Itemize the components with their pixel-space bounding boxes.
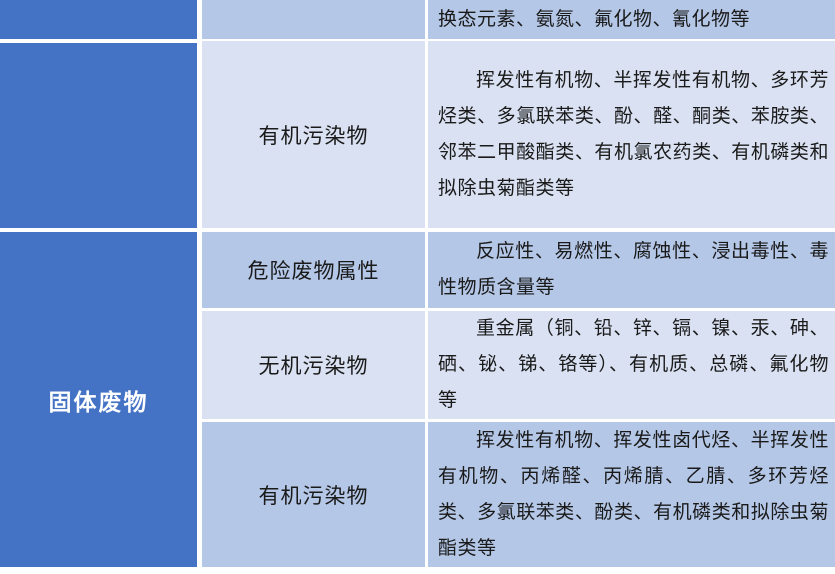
table-row: 有机污染物 挥发性有机物、挥发性卤代烃、半挥发性有机物、丙烯醛、丙烯腈、乙腈、多… (202, 422, 835, 567)
pollutant-category-table: 固体废物 换态元素、氨氮、氟化物、氰化物等 有机污染物 挥发性有机物、半挥发性有… (0, 0, 835, 567)
pollutant-items-text: 反应性、易燃性、腐蚀性、浸出毒性、毒性物质含量等 (438, 234, 829, 306)
pollutant-items-cell: 挥发性有机物、半挥发性有机物、多环芳烃类、多氯联苯类、酚、醛、酮类、苯胺类、邻苯… (425, 41, 835, 228)
pollutant-items-text: 挥发性有机物、半挥发性有机物、多环芳烃类、多氯联苯类、酚、醛、酮类、苯胺类、邻苯… (438, 63, 829, 207)
pollutant-items-text: 重金属（铜、铅、锌、镉、镍、汞、砷、硒、铋、锑、铬等）、有机质、总磷、氟化物等 (438, 311, 829, 419)
category-divider-top (0, 39, 197, 43)
table-row: 有机污染物 挥发性有机物、半挥发性有机物、多环芳烃类、多氯联苯类、酚、醛、酮类、… (202, 41, 835, 228)
table-body: 换态元素、氨氮、氟化物、氰化物等 有机污染物 挥发性有机物、半挥发性有机物、多环… (202, 0, 835, 567)
category-cell-empty (0, 0, 197, 228)
table-row: 换态元素、氨氮、氟化物、氰化物等 (202, 0, 835, 39)
pollutant-type-cell: 危险废物属性 (202, 232, 425, 308)
pollutant-type-cell (202, 0, 425, 39)
pollutant-items-cell: 挥发性有机物、挥发性卤代烃、半挥发性有机物、丙烯醛、丙烯腈、乙腈、多环芳烃类、多… (425, 422, 835, 567)
table-row: 危险废物属性 反应性、易燃性、腐蚀性、浸出毒性、毒性物质含量等 (202, 232, 835, 308)
table-row: 无机污染物 重金属（铜、铅、锌、镉、镍、汞、砷、硒、铋、锑、铬等）、有机质、总磷… (202, 311, 835, 419)
category-label: 固体废物 (49, 383, 149, 417)
bottom-margin (0, 567, 835, 574)
pollutant-items-cell: 重金属（铜、铅、锌、镉、镍、汞、砷、硒、铋、锑、铬等）、有机质、总磷、氟化物等 (425, 311, 835, 419)
category-cell-solid-waste: 固体废物 (0, 232, 197, 567)
pollutant-items-text: 换态元素、氨氮、氟化物、氰化物等 (438, 2, 750, 38)
pollutant-type-cell: 有机污染物 (202, 41, 425, 228)
pollutant-type-cell: 无机污染物 (202, 311, 425, 419)
pollutant-items-cell: 反应性、易燃性、腐蚀性、浸出毒性、毒性物质含量等 (425, 232, 835, 308)
pollutant-items-text: 挥发性有机物、挥发性卤代烃、半挥发性有机物、丙烯醛、丙烯腈、乙腈、多环芳烃类、多… (438, 423, 829, 567)
pollutant-type-cell: 有机污染物 (202, 422, 425, 567)
pollutant-items-cell: 换态元素、氨氮、氟化物、氰化物等 (425, 0, 835, 39)
